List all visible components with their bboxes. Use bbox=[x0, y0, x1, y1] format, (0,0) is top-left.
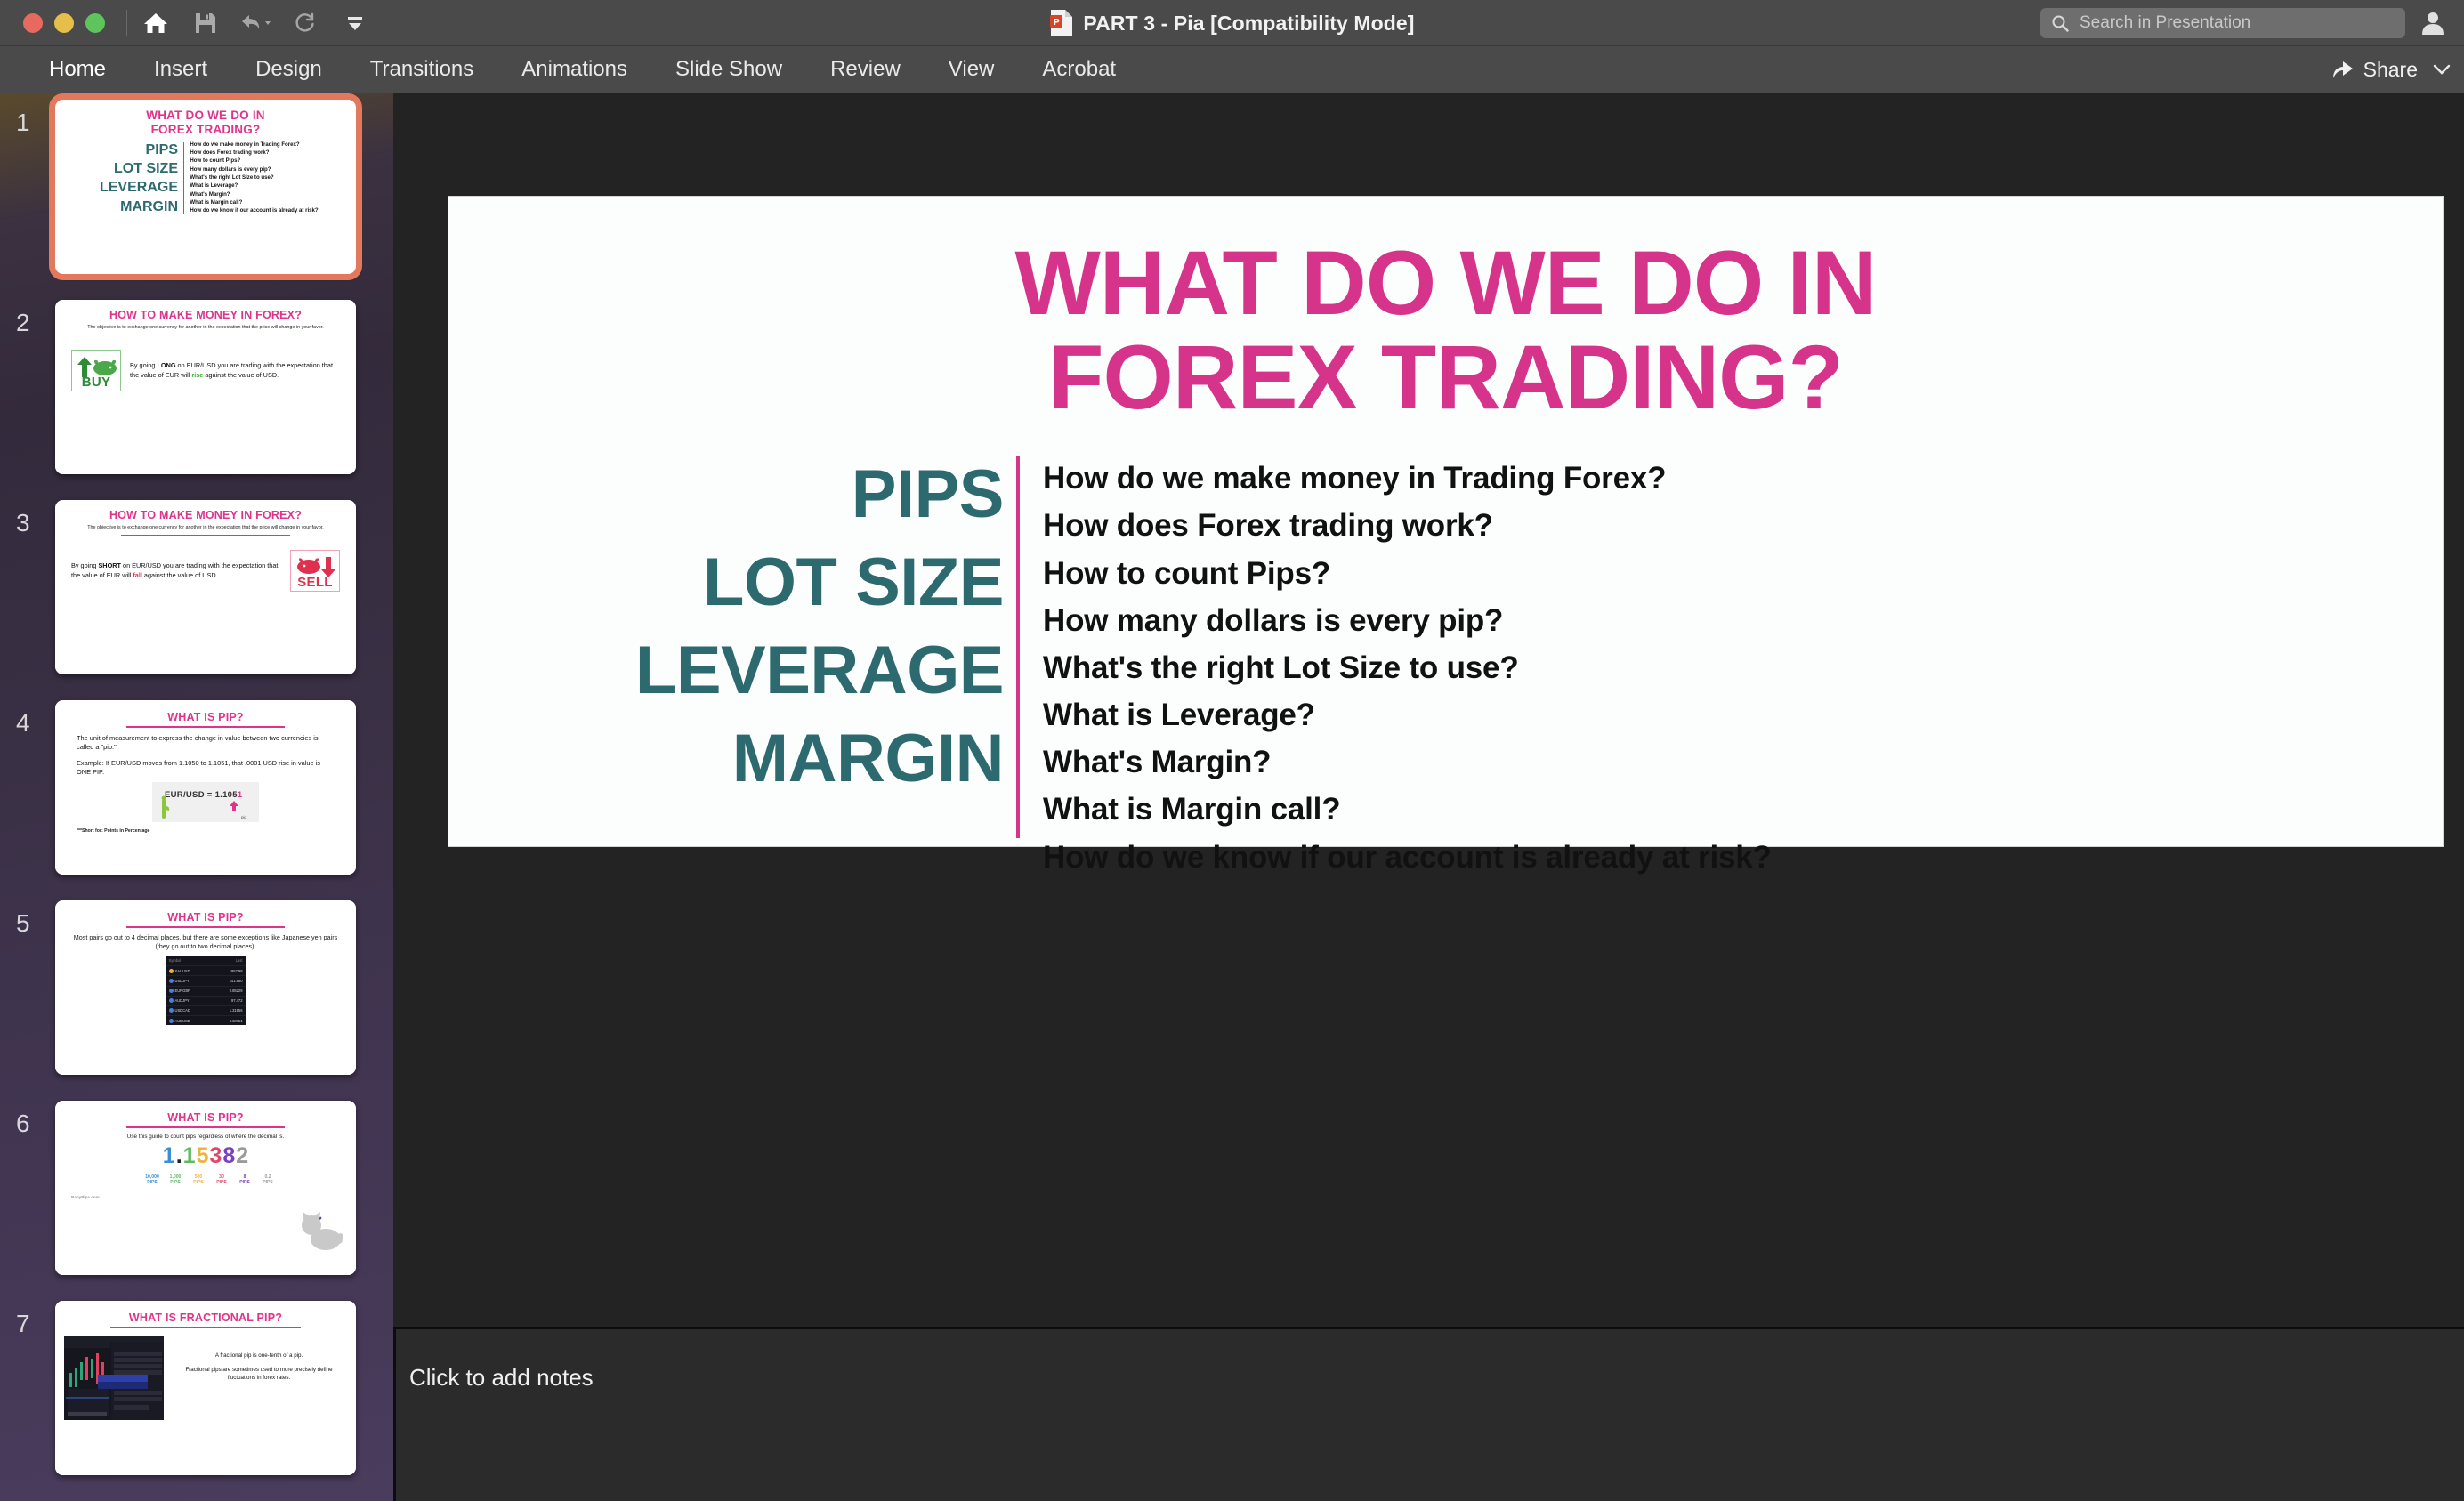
slide-thumbnail-2[interactable]: 2 HOW TO MAKE MONEY IN FOREX? The object… bbox=[0, 293, 393, 493]
thumb4-footnote: ***Short for: Points in Percentage bbox=[55, 822, 356, 834]
slide-thumbnail-6[interactable]: 6 WHAT IS PIP? Use this guide to count p… bbox=[0, 1093, 393, 1294]
share-icon bbox=[2331, 59, 2355, 80]
zoom-window-button[interactable] bbox=[85, 13, 105, 33]
toolbar-divider bbox=[126, 10, 127, 36]
thumb4-equation-box: EUR/USD = 1.1051 pip bbox=[152, 782, 259, 822]
keyword-margin: MARGIN bbox=[473, 715, 1004, 803]
keyword-leverage: LEVERAGE bbox=[473, 627, 1004, 715]
slide-number-1: 1 bbox=[16, 109, 30, 137]
slide-thumbnail-5[interactable]: 5 WHAT IS PIP? Most pairs go out to 4 de… bbox=[0, 893, 393, 1093]
thumb7-body: A fractional pip is one-tenth of a pip. … bbox=[171, 1336, 347, 1420]
thumb1-keywords: PIPS LOT SIZE LEVERAGE MARGIN bbox=[61, 141, 183, 216]
slide-number-4: 4 bbox=[16, 709, 30, 738]
col-last: Last bbox=[213, 956, 246, 966]
slide-number-6: 6 bbox=[16, 1110, 30, 1138]
thumb1-keyword-leverage: LEVERAGE bbox=[61, 178, 178, 197]
share-label: Share bbox=[2363, 58, 2418, 82]
thumb4-equation: EUR/USD = 1.1051 bbox=[165, 790, 242, 800]
thumb1-keyword-lot-size: LOT SIZE bbox=[61, 159, 178, 178]
thumb6-title: WHAT IS PIP? bbox=[55, 1101, 356, 1124]
slide-thumbnail-frame[interactable]: WHAT DO WE DO IN FOREX TRADING? PIPS LOT… bbox=[55, 100, 356, 274]
search-placeholder: Search in Presentation bbox=[2080, 13, 2250, 33]
thumb3-subtitle: The objective is to exchange one currenc… bbox=[55, 521, 356, 531]
tab-view[interactable]: View bbox=[925, 46, 1019, 93]
slide-number-5: 5 bbox=[16, 909, 30, 938]
search-icon bbox=[2051, 14, 2069, 32]
share-button[interactable]: Share bbox=[2326, 58, 2423, 82]
customize-toolbar-icon[interactable] bbox=[332, 3, 378, 44]
trading-chart-screenshot bbox=[64, 1336, 164, 1420]
slide-number-7: 7 bbox=[16, 1310, 30, 1338]
thumb1-title-line2: FOREX TRADING? bbox=[55, 123, 356, 137]
forex-rates-table: Symbol Last XAUUSD1957.98 USDJPY141.880 … bbox=[166, 956, 246, 1026]
question-list[interactable]: How do we make money in Trading Forex? H… bbox=[1043, 451, 2393, 881]
table-row: USDJPY141.880 bbox=[166, 976, 246, 986]
thumb5-title: WHAT IS PIP? bbox=[55, 900, 356, 924]
thumb6-pip-values: 10,000PIPS 1,000PIPS 500PIPS 30PIPS 8PIP… bbox=[64, 1167, 356, 1186]
vertical-divider-line bbox=[1016, 456, 1020, 838]
thumb2-body: By going LONG on EUR/USD you are trading… bbox=[130, 361, 340, 380]
tab-insert[interactable]: Insert bbox=[130, 46, 231, 93]
document-title-text: PART 3 - Pia [Compatibility Mode] bbox=[1083, 12, 1414, 36]
slide-title[interactable]: WHAT DO WE DO IN FOREX TRADING? bbox=[448, 197, 2443, 424]
sell-badge: SELL bbox=[290, 550, 340, 592]
slide-number-2: 2 bbox=[16, 309, 30, 337]
tab-animations[interactable]: Animations bbox=[497, 46, 651, 93]
current-slide[interactable]: WHAT DO WE DO IN FOREX TRADING? PIPS LOT… bbox=[448, 197, 2443, 846]
slide-thumbnail-frame[interactable]: WHAT IS PIP? Most pairs go out to 4 deci… bbox=[55, 900, 356, 1075]
table-row: USDCAD1.31956 bbox=[166, 1005, 246, 1015]
home-icon[interactable] bbox=[133, 3, 179, 44]
slide-thumbnail-panel[interactable]: 1 WHAT DO WE DO IN FOREX TRADING? PIPS L… bbox=[0, 93, 393, 1501]
thumb2-subtitle: The objective is to exchange one currenc… bbox=[55, 321, 356, 331]
table-row: XAUUSD1957.98 bbox=[166, 966, 246, 976]
tab-transitions[interactable]: Transitions bbox=[346, 46, 497, 93]
ribbon-tabs: Home Insert Design Transitions Animation… bbox=[0, 46, 1140, 93]
slide-thumbnail-frame[interactable]: HOW TO MAKE MONEY IN FOREX? The objectiv… bbox=[55, 300, 356, 474]
window-traffic-lights bbox=[23, 13, 105, 33]
thumb3-title: HOW TO MAKE MONEY IN FOREX? bbox=[55, 500, 356, 521]
question-item: How does Forex trading work? bbox=[1043, 502, 2393, 549]
question-item: What's Margin? bbox=[1043, 738, 2393, 786]
thumb4-title: WHAT IS PIP? bbox=[55, 700, 356, 723]
save-icon[interactable] bbox=[182, 3, 229, 44]
thumb1-questions: How do we make money in Trading Forex? H… bbox=[190, 141, 349, 216]
table-row: AUDUSD0.68751 bbox=[166, 1016, 246, 1026]
slide-thumbnail-frame[interactable]: WHAT IS PIP? Use this guide to count pip… bbox=[55, 1101, 356, 1275]
slide-title-line2: FOREX TRADING? bbox=[448, 330, 2443, 424]
cat-mascot-icon bbox=[287, 1207, 345, 1252]
question-item: What is Leverage? bbox=[1043, 691, 2393, 738]
buy-badge: BUY bbox=[71, 350, 121, 391]
minimize-window-button[interactable] bbox=[54, 13, 74, 33]
thumb7-title: WHAT IS FRACTIONAL PIP? bbox=[55, 1301, 356, 1324]
tab-acrobat[interactable]: Acrobat bbox=[1018, 46, 1140, 93]
tab-design[interactable]: Design bbox=[231, 46, 346, 93]
notes-left-edge bbox=[393, 1329, 396, 1501]
slide-number-3: 3 bbox=[16, 509, 30, 537]
redo-icon[interactable] bbox=[282, 3, 328, 44]
thumb1-keyword-margin: MARGIN bbox=[61, 198, 178, 216]
svg-text:P: P bbox=[1054, 18, 1060, 28]
slide-editor-canvas[interactable]: WHAT DO WE DO IN FOREX TRADING? PIPS LOT… bbox=[393, 93, 2464, 1501]
ribbon-right-actions: Share bbox=[2326, 46, 2452, 93]
slide-thumbnail-frame[interactable]: WHAT IS FRACTIONAL PIP? bbox=[55, 1301, 356, 1475]
bull-buy-icon bbox=[75, 354, 119, 381]
notes-placeholder: Click to add notes bbox=[393, 1329, 2464, 1392]
question-item: How do we know if our account is already… bbox=[1043, 834, 2393, 881]
slide-thumbnail-frame[interactable]: HOW TO MAKE MONEY IN FOREX? The objectiv… bbox=[55, 500, 356, 674]
thumb6-digits: 1 . 1 5 3 8 2 bbox=[55, 1140, 356, 1167]
slide-thumbnail-3[interactable]: 3 HOW TO MAKE MONEY IN FOREX? The object… bbox=[0, 493, 393, 693]
table-row: AUDJPY97.472 bbox=[166, 996, 246, 1005]
thumb4-para2: Example: If EUR/USD moves from 1.1050 to… bbox=[55, 753, 356, 778]
keyword-pips: PIPS bbox=[473, 451, 1004, 539]
thumb6-brand: BabyPips.com bbox=[55, 1186, 356, 1199]
question-item: How do we make money in Trading Forex? bbox=[1043, 455, 2393, 502]
keyword-lot-size: LOT SIZE bbox=[473, 539, 1004, 627]
keyword-list[interactable]: PIPS LOT SIZE LEVERAGE MARGIN bbox=[473, 451, 1016, 881]
table-row: EURGBP0.85229 bbox=[166, 986, 246, 996]
col-symbol: Symbol bbox=[166, 956, 213, 966]
thumb5-subtitle: Most pairs go out to 4 decimal places, b… bbox=[55, 928, 356, 951]
pip-arrow-icon bbox=[229, 800, 239, 812]
undo-icon[interactable] bbox=[232, 3, 279, 44]
thumb3-body: By going SHORT on EUR/USD you are tradin… bbox=[71, 561, 281, 580]
thumb6-subtitle: Use this guide to count pips regardless … bbox=[55, 1128, 356, 1141]
title-bar: P PART 3 - Pia [Compatibility Mode] Sear… bbox=[0, 0, 2464, 46]
thumb4-pip-label: pip bbox=[241, 815, 246, 819]
question-item: What is Margin call? bbox=[1043, 786, 2393, 833]
slide-thumbnail-1[interactable]: 1 WHAT DO WE DO IN FOREX TRADING? PIPS L… bbox=[0, 93, 393, 293]
search-input[interactable]: Search in Presentation bbox=[2040, 8, 2405, 38]
table-header-row: Symbol Last bbox=[166, 956, 246, 966]
notes-pane[interactable]: Click to add notes bbox=[393, 1329, 2464, 1501]
slide-thumbnail-7[interactable]: 7 WHAT IS FRACTIONAL PIP? bbox=[0, 1294, 393, 1494]
slide-content-columns: PIPS LOT SIZE LEVERAGE MARGIN How do we … bbox=[448, 424, 2443, 881]
slide-thumbnail-frame[interactable]: WHAT IS PIP? The unit of measurement to … bbox=[55, 700, 356, 875]
tab-slide-show[interactable]: Slide Show bbox=[651, 46, 806, 93]
thumb1-divider bbox=[183, 142, 184, 214]
title-bar-right: Search in Presentation bbox=[2040, 0, 2464, 46]
slide-title-line1: WHAT DO WE DO IN bbox=[448, 236, 2443, 330]
thumb1-title-line1: WHAT DO WE DO IN bbox=[55, 109, 356, 123]
thumb1-keyword-pips: PIPS bbox=[61, 141, 178, 159]
slide-thumbnail-4[interactable]: 4 WHAT IS PIP? The unit of measurement t… bbox=[0, 693, 393, 893]
ribbon-tab-bar: Home Insert Design Transitions Animation… bbox=[0, 46, 2464, 93]
quick-access-toolbar bbox=[133, 3, 378, 44]
close-window-button[interactable] bbox=[23, 13, 43, 33]
tab-review[interactable]: Review bbox=[806, 46, 925, 93]
chevron-down-icon[interactable] bbox=[2432, 60, 2452, 79]
question-item: How many dollars is every pip? bbox=[1043, 597, 2393, 644]
thumb4-para1: The unit of measurement to express the c… bbox=[55, 728, 356, 753]
plant-icon bbox=[158, 794, 171, 820]
question-item: What's the right Lot Size to use? bbox=[1043, 644, 2393, 691]
thumb2-title: HOW TO MAKE MONEY IN FOREX? bbox=[55, 300, 356, 321]
question-item: How to count Pips? bbox=[1043, 550, 2393, 597]
powerpoint-file-icon: P bbox=[1049, 9, 1074, 37]
tab-home[interactable]: Home bbox=[25, 46, 130, 93]
bear-sell-icon bbox=[294, 554, 338, 581]
account-icon[interactable] bbox=[2418, 8, 2448, 38]
